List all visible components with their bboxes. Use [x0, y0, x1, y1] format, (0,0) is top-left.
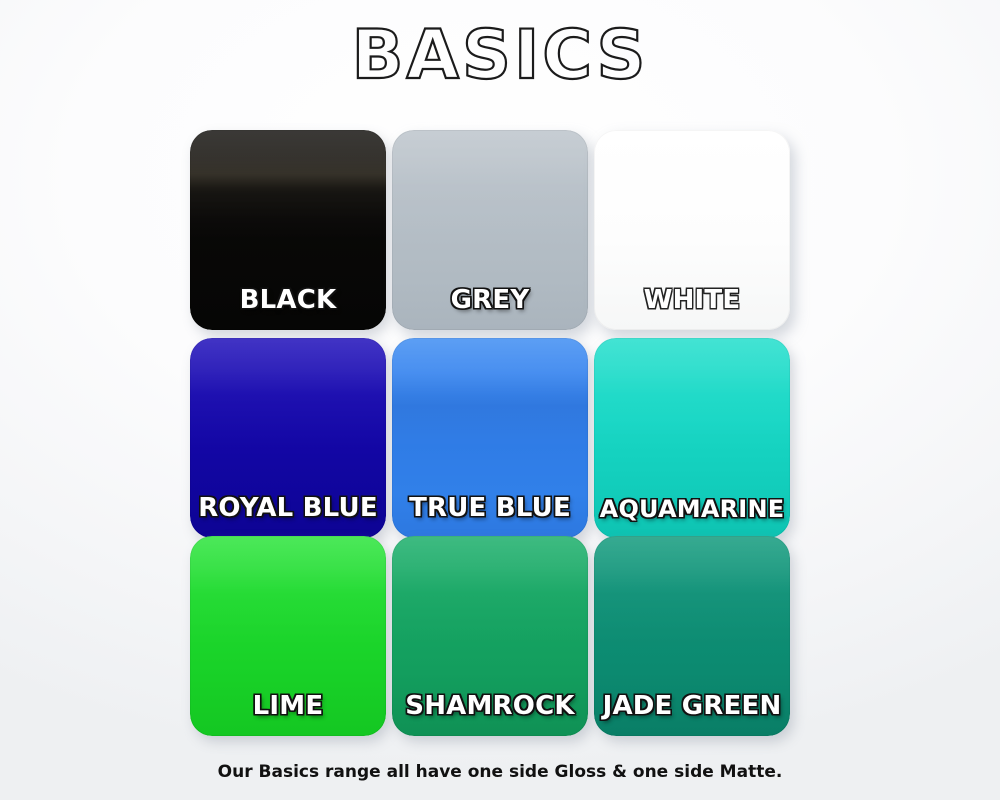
- swatch-label: AQUAMARINE: [594, 497, 790, 522]
- swatch-label: LIME: [190, 693, 386, 720]
- swatch-aquamarine[interactable]: AQUAMARINE: [594, 338, 790, 538]
- swatch-grid: BLACK GREY WHITE ROYAL BLUE TRUE BLUE: [190, 130, 798, 738]
- swatch-label: JADE GREEN: [594, 693, 790, 720]
- swatch-royal-blue[interactable]: ROYAL BLUE: [190, 338, 386, 538]
- swatch-jade-green[interactable]: JADE GREEN: [594, 536, 790, 736]
- page-title: BASICS: [0, 22, 1000, 90]
- swatch-shamrock[interactable]: SHAMROCK: [392, 536, 588, 736]
- swatch-label: SHAMROCK: [392, 693, 588, 720]
- swatch-label: WHITE: [594, 287, 790, 314]
- swatch-grey[interactable]: GREY: [392, 130, 588, 330]
- swatch-black[interactable]: BLACK: [190, 130, 386, 330]
- swatch-lime[interactable]: LIME: [190, 536, 386, 736]
- swatch-label: TRUE BLUE: [392, 495, 588, 522]
- color-chart-image: BASICS BLACK GREY WHITE ROYAL BLUE: [0, 0, 1000, 800]
- swatch-label: ROYAL BLUE: [190, 495, 386, 522]
- footer-caption: Our Basics range all have one side Gloss…: [0, 762, 1000, 782]
- swatch-true-blue[interactable]: TRUE BLUE: [392, 338, 588, 538]
- swatch-white[interactable]: WHITE: [594, 130, 790, 330]
- swatch-label: GREY: [392, 287, 588, 314]
- swatch-label: BLACK: [190, 287, 386, 314]
